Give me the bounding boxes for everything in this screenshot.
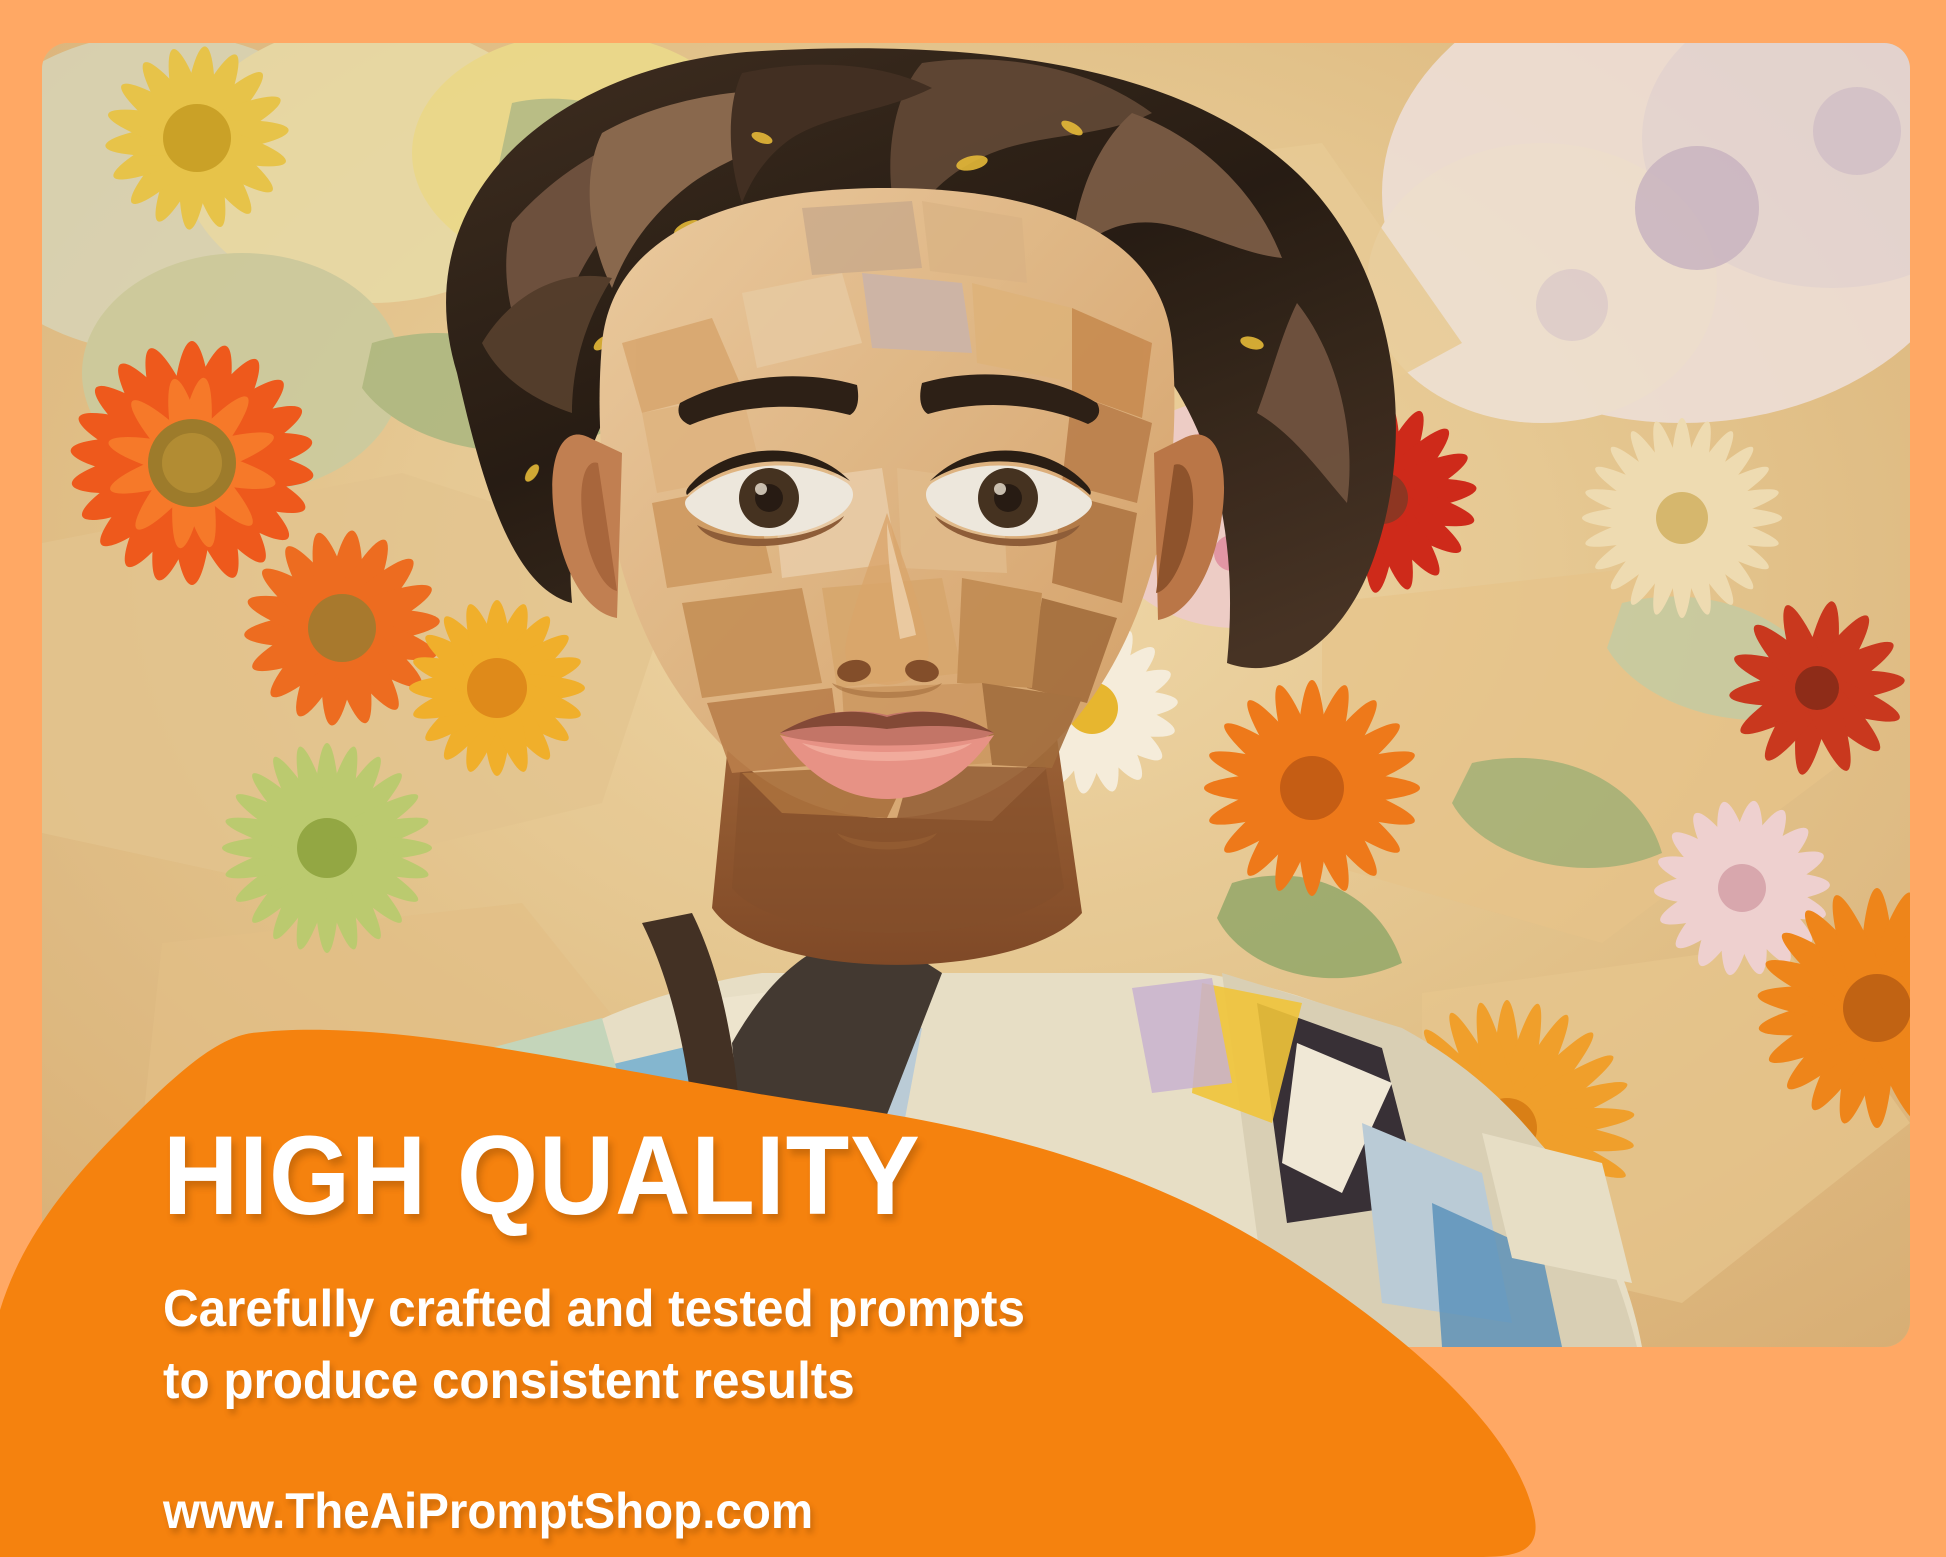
promo-card: HIGH QUALITY Carefully crafted and teste… <box>0 0 1946 1557</box>
page-title: HIGH QUALITY <box>163 1120 1186 1232</box>
caption-text-block: HIGH QUALITY Carefully crafted and teste… <box>163 1120 1263 1539</box>
caption-subtitle: Carefully crafted and tested prompts to … <box>163 1232 1056 1418</box>
website-url[interactable]: www.TheAiPromptShop.com <box>163 1418 1208 1539</box>
